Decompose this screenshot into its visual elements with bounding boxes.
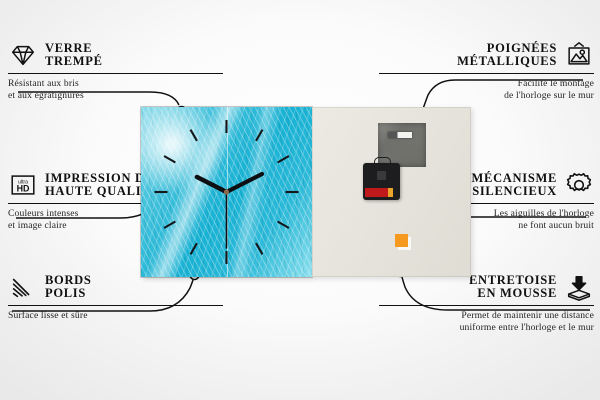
infographic-canvas: VERRETREMPÉ Résistant aux briset aux égr… <box>0 0 600 400</box>
feature-title: VERRETREMPÉ <box>45 42 103 69</box>
clock-center-pin <box>224 189 229 194</box>
feature-divider <box>8 305 223 306</box>
gear-icon <box>564 170 594 200</box>
turquoise-feather-clock-face <box>141 107 312 277</box>
feature-header: POIGNÉESMÉTALLIQUES <box>379 40 594 70</box>
hanger-slot <box>388 132 412 138</box>
feature-verre-trempe: VERRETREMPÉ Résistant aux briset aux égr… <box>8 40 223 101</box>
polished-edges-icon <box>8 272 38 302</box>
feature-header: VERRETREMPÉ <box>8 40 223 70</box>
clock-back-panel <box>312 107 471 277</box>
aa-battery <box>365 188 393 197</box>
product-image <box>141 107 471 277</box>
diamond-icon <box>8 40 38 70</box>
clock-markings <box>141 107 312 277</box>
feature-subtext: Surface lisse et sûre <box>8 310 223 322</box>
feature-title: ENTRETOISEEN MOUSSE <box>469 274 557 301</box>
feature-title: MÉCANISMESILENCIEUX <box>472 172 557 199</box>
svg-text:HD: HD <box>17 183 30 193</box>
orange-foam-spacer <box>395 234 408 247</box>
framed-picture-icon <box>564 40 594 70</box>
foam-spacer-arrow-icon <box>564 272 594 302</box>
feature-divider <box>8 73 223 74</box>
feature-subtext: Permet de maintenir une distanceuniforme… <box>379 310 594 333</box>
clock-mechanism <box>363 163 400 200</box>
feature-subtext: Résistant aux briset aux égratignures <box>8 78 223 101</box>
feature-divider <box>379 73 594 74</box>
feature-bords-polis: BORDSPOLIS Surface lisse et sûre <box>8 272 223 322</box>
feature-title: POIGNÉESMÉTALLIQUES <box>457 42 557 69</box>
mechanism-shaft <box>377 171 386 180</box>
feature-subtext: Facilite le montagede l'horloge sur le m… <box>379 78 594 101</box>
ultra-hd-icon: ultra HD <box>8 170 38 200</box>
feature-poignees-metalliques: POIGNÉESMÉTALLIQUES Facilite le montaged… <box>379 40 594 101</box>
mechanism-hanging-loop <box>374 157 391 166</box>
feature-title: BORDSPOLIS <box>45 274 92 301</box>
feature-divider <box>379 305 594 306</box>
feature-entretoise-mousse: ENTRETOISEEN MOUSSE Permet de maintenir … <box>379 272 594 333</box>
